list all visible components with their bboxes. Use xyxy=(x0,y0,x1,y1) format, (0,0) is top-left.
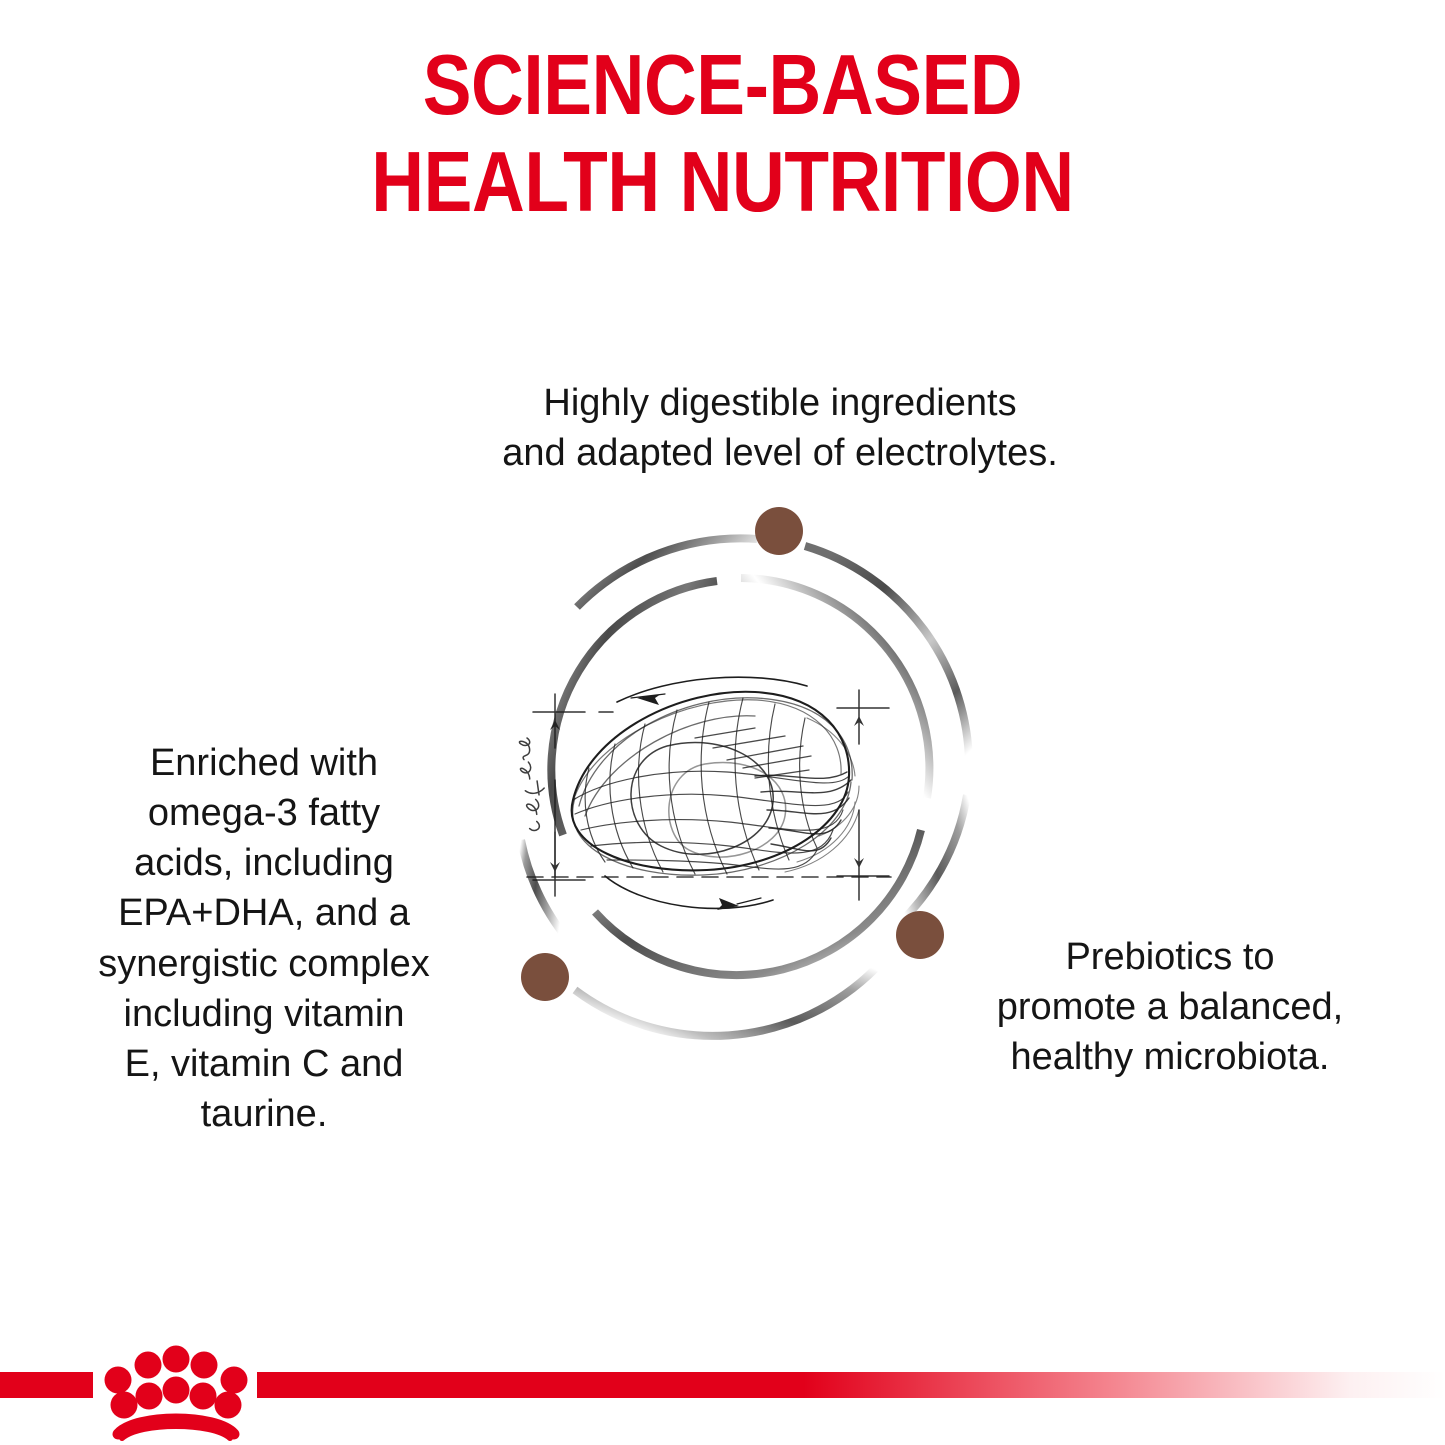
crown-dot-low-left xyxy=(111,1392,138,1419)
crown-dot-top-5 xyxy=(221,1367,248,1394)
crown-dot-top-2 xyxy=(135,1352,162,1379)
crown-dot-mid-3 xyxy=(190,1383,217,1410)
outer-ring-arc-lower-left xyxy=(521,840,568,940)
poster-canvas: SCIENCE-BASED HEALTH NUTRITION Highly di… xyxy=(0,0,1445,1445)
callout-left-text: Enriched with omega-3 fatty acids, inclu… xyxy=(38,738,490,1139)
kibble-sketch xyxy=(516,677,891,910)
kibble-emblem xyxy=(455,480,1035,1060)
crown-base-arcs xyxy=(118,1419,234,1438)
dot-bottom-right xyxy=(896,911,944,959)
dot-top xyxy=(755,507,803,555)
outer-ring-arc-lower-right xyxy=(892,795,967,930)
inner-ring-arc-top-right xyxy=(741,578,929,798)
crown-dot-top-4 xyxy=(191,1352,218,1379)
crown-dot-top-1 xyxy=(105,1367,132,1394)
page-title-line-1: SCIENCE-BASED xyxy=(101,38,1344,135)
page-title: SCIENCE-BASED HEALTH NUTRITION xyxy=(101,38,1344,232)
kibble-mesh-transverse xyxy=(585,698,817,874)
crown-dot-mid-1 xyxy=(136,1383,163,1410)
royal-canin-crown-logo xyxy=(88,1326,264,1444)
crown-dot-mid-2 xyxy=(163,1377,190,1404)
kibble-outline-overdraw xyxy=(573,698,853,875)
crown-dot-top-3 xyxy=(163,1346,190,1373)
crown-dots xyxy=(105,1346,248,1419)
outer-ring xyxy=(521,538,969,1035)
footer-brand-bar xyxy=(0,1325,1445,1445)
outer-ring-arc-bottom xyxy=(575,969,875,1036)
brand-bar-left-segment xyxy=(0,1372,93,1398)
page-title-line-2: HEALTH NUTRITION xyxy=(101,135,1344,232)
callout-top-text: Highly digestible ingredients and adapte… xyxy=(420,378,1140,478)
kibble-highlight-hatching xyxy=(695,728,811,778)
inner-ring xyxy=(551,578,929,975)
inner-ring-arc-bottom xyxy=(595,830,921,975)
dot-bottom-left xyxy=(521,953,569,1001)
handwritten-note xyxy=(516,737,550,832)
crown-dot-low-right xyxy=(215,1392,242,1419)
brand-bar-right-segment xyxy=(257,1372,1445,1398)
